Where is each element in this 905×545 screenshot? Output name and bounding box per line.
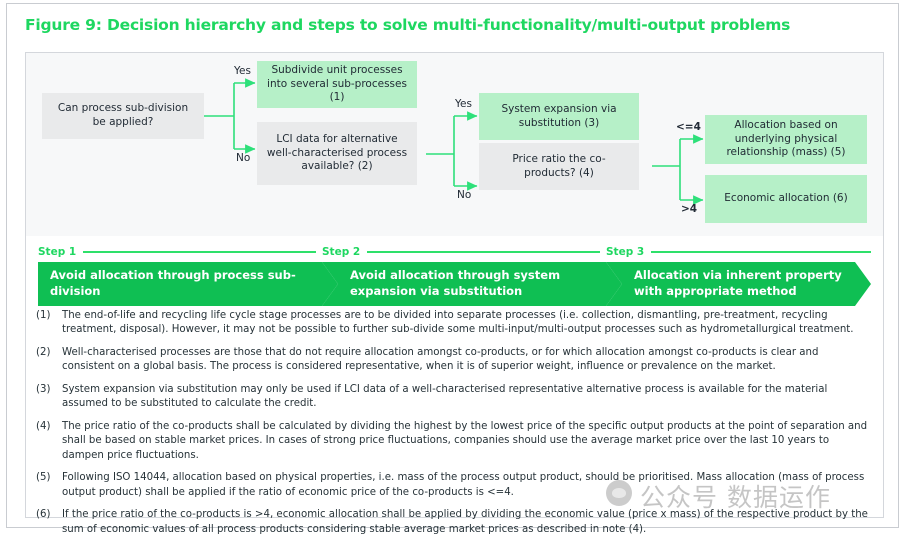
note-item: (6) If the price ratio of the co-product… (26, 508, 883, 537)
notes-list: (1) The end-of-life and recycling life c… (26, 301, 883, 545)
step-title-3: Allocation via inherent property with ap… (634, 268, 871, 299)
step-bar-2: Avoid allocation through system expansio… (322, 262, 622, 306)
note-item: (2) Well-characterised processes are tho… (26, 346, 883, 375)
note-text: If the price ratio of the co-products is… (62, 508, 883, 537)
edge-label-yes-2: Yes (455, 98, 472, 110)
node-system-expansion[interactable]: System expansion via substitution (3) (479, 93, 639, 140)
figure-frame: Figure 9: Decision hierarchy and steps t… (6, 3, 899, 528)
node-lci-data-alternative[interactable]: LCI data for alternative well-characteri… (257, 122, 417, 185)
note-number: (3) (26, 383, 62, 412)
note-number: (1) (26, 309, 62, 338)
note-text: Well-characterised processes are those t… (62, 346, 883, 375)
note-number: (6) (26, 508, 62, 537)
step-label-2: Step 2 (322, 246, 360, 258)
step-title-2: Avoid allocation through system expansio… (350, 268, 622, 299)
note-number: (4) (26, 420, 62, 463)
step-bar-1: Avoid allocation through process sub-div… (38, 262, 338, 306)
step-header-3: Step 3 (606, 244, 871, 260)
node-subdivide-unit-processes[interactable]: Subdivide unit processes into several su… (257, 61, 417, 108)
note-text: The end-of-life and recycling life cycle… (62, 309, 883, 338)
note-text: System expansion via substitution may on… (62, 383, 883, 412)
note-item: (3) System expansion via substitution ma… (26, 383, 883, 412)
node-price-ratio[interactable]: Price ratio the co-products? (4) (479, 143, 639, 190)
figure-panel: Can process sub-division be applied? Sub… (25, 52, 884, 518)
edge-label-gt4: >4 (681, 203, 697, 215)
step-label-3: Step 3 (606, 246, 644, 258)
edge-label-no-1: No (236, 152, 250, 164)
node-economic-allocation[interactable]: Economic allocation (6) (705, 175, 867, 223)
note-item: (5) Following ISO 14044, allocation base… (26, 471, 883, 500)
step-rule-1 (83, 251, 316, 253)
note-text: Following ISO 14044, allocation based on… (62, 471, 883, 500)
note-text: The price ratio of the co-products shall… (62, 420, 883, 463)
step-header-2: Step 2 (322, 244, 600, 260)
note-item: (1) The end-of-life and recycling life c… (26, 309, 883, 338)
step-label-1: Step 1 (38, 246, 76, 258)
note-number: (2) (26, 346, 62, 375)
edge-label-yes-1: Yes (234, 65, 251, 77)
step-rule-2 (367, 251, 600, 253)
step-header-1: Step 1 (38, 244, 316, 260)
node-allocation-physical-relationship[interactable]: Allocation based on underlying physical … (705, 115, 867, 164)
note-item: (4) The price ratio of the co-products s… (26, 420, 883, 463)
edge-label-lte4: <=4 (676, 121, 701, 133)
page-title: Figure 9: Decision hierarchy and steps t… (25, 16, 885, 34)
step-rule-3 (651, 251, 871, 253)
node-can-process-sub-division[interactable]: Can process sub-division be applied? (42, 93, 204, 139)
step-bar-3: Allocation via inherent property with ap… (606, 262, 871, 306)
step-title-1: Avoid allocation through process sub-div… (50, 268, 338, 299)
edge-label-no-2: No (457, 189, 471, 201)
decision-flowchart: Can process sub-division be applied? Sub… (26, 53, 883, 236)
note-number: (5) (26, 471, 62, 500)
